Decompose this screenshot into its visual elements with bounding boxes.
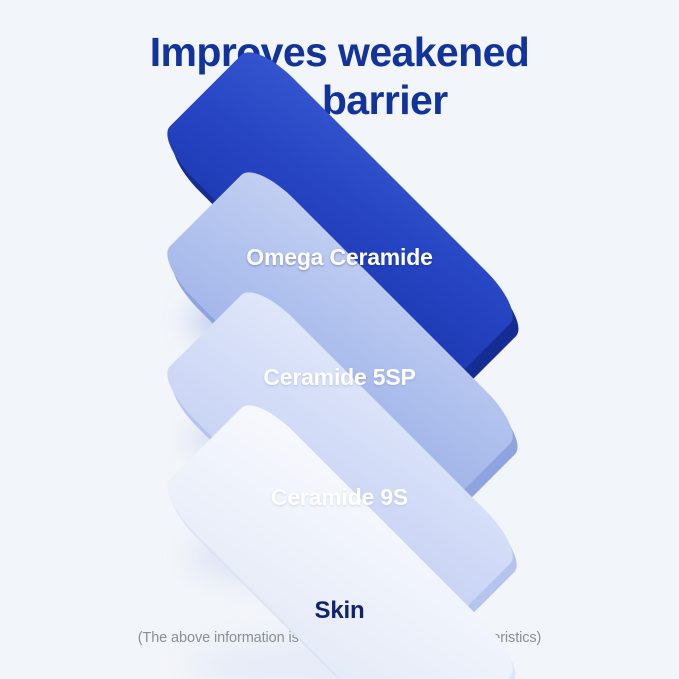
diagram-layer-label-ceramide-9s: Ceramide 9S [150, 484, 530, 511]
diagram-layer-label-ceramide-5sp: Ceramide 5SP [150, 364, 530, 391]
diagram-layer-label-omega-ceramide: Omega Ceramide [150, 244, 530, 271]
layer-stack-diagram: Omega Ceramide Ceramide 5SP Ceramide 9S … [0, 0, 679, 679]
diagram-layer-label-skin: Skin [150, 597, 530, 625]
infographic-page: Improves weakened skin barrier Omega Cer… [0, 0, 679, 679]
